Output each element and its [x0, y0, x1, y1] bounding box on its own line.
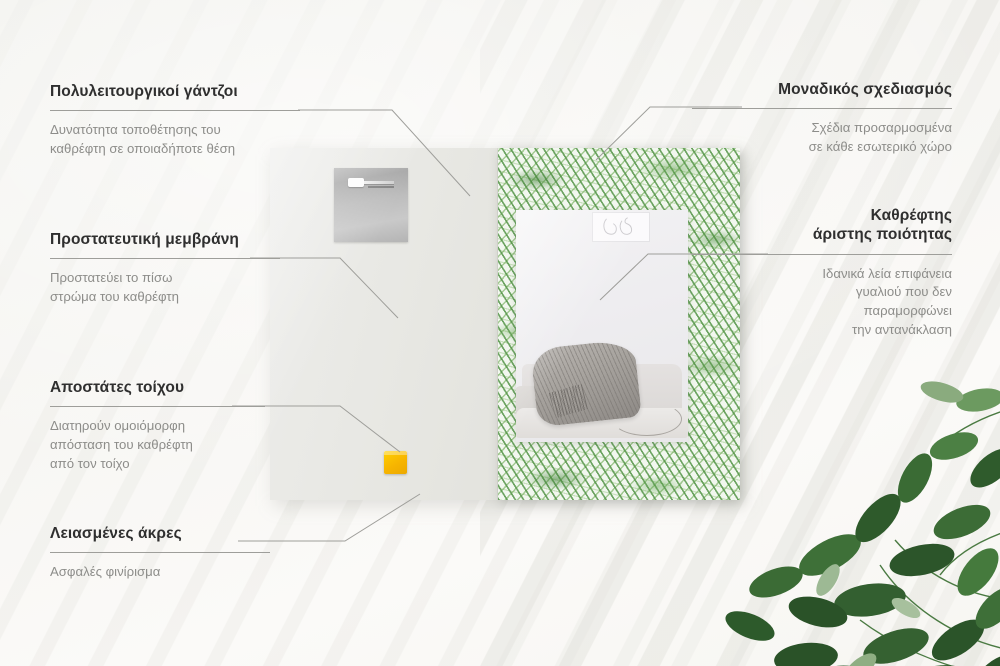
keyhole-hole [348, 178, 364, 187]
keyhole-bar [364, 181, 394, 185]
throw-fringe [549, 384, 589, 418]
callout-hooks-title: Πολυλειτουργικοί γάντζοι [50, 82, 300, 101]
reflected-wire-detail [612, 402, 682, 436]
product-image [270, 148, 740, 500]
callout-spacers-title: Αποστάτες τοίχου [50, 378, 265, 397]
callout-membrane: Προστατευτική μεμβράνη Προστατεύει το πί… [50, 230, 280, 307]
mirror-glass-reflection [516, 210, 688, 442]
hanger-plate-icon [334, 168, 408, 242]
callout-design: Μοναδικός σχεδιασμός Σχέδια προσαρμοσμέν… [692, 80, 952, 157]
callout-hooks: Πολυλειτουργικοί γάντζοι Δυνατότητα τοπο… [50, 82, 300, 159]
callout-membrane-desc: Προστατεύει το πίσω στρώμα του καθρέφτη [50, 269, 280, 306]
callout-hooks-desc: Δυνατότητα τοποθέτησης του καθρέφτη σε ο… [50, 121, 300, 158]
callout-edges-rule [50, 552, 270, 553]
artwork-line-drawing-icon [593, 213, 649, 242]
callout-membrane-title: Προστατευτική μεμβράνη [50, 230, 280, 249]
callout-design-title: Μοναδικός σχεδιασμός [692, 80, 952, 99]
callout-quality: Καθρέφτης άριστης ποιότητας Ιδανικά λεία… [692, 206, 952, 340]
reflected-artwork [592, 212, 650, 242]
callout-edges: Λειασμένες άκρες Ασφαλές φινίρισμα [50, 524, 270, 582]
keyhole-bar-shadow [368, 186, 394, 188]
callout-spacers: Αποστάτες τοίχου Διατηρούν ομοιόμορφη απ… [50, 378, 265, 474]
keyhole-slot [348, 178, 394, 188]
product-infographic: Πολυλειτουργικοί γάντζοι Δυνατότητα τοπο… [0, 0, 1000, 666]
callout-design-desc: Σχέδια προσαρμοσμένα σε κάθε εσωτερικό χ… [692, 119, 952, 156]
callout-spacers-desc: Διατηρούν ομοιόμορφη απόσταση του καθρέφ… [50, 417, 265, 473]
callout-quality-title: Καθρέφτης άριστης ποιότητας [692, 206, 952, 245]
mirror-back-panel [270, 148, 498, 500]
callout-quality-desc: Ιδανικά λεία επιφάνεια γυαλιού που δεν π… [692, 265, 952, 340]
callout-design-rule [692, 108, 952, 109]
callout-membrane-rule [50, 258, 280, 259]
callout-edges-title: Λειασμένες άκρες [50, 524, 270, 543]
callout-quality-rule [692, 254, 952, 255]
callout-edges-desc: Ασφαλές φινίρισμα [50, 563, 270, 582]
foreground-plant-leaves-icon [710, 350, 1000, 666]
wall-spacer-icon [384, 451, 407, 474]
plant-stems [860, 410, 1000, 666]
callout-spacers-rule [50, 406, 265, 407]
callout-hooks-rule [50, 110, 300, 111]
